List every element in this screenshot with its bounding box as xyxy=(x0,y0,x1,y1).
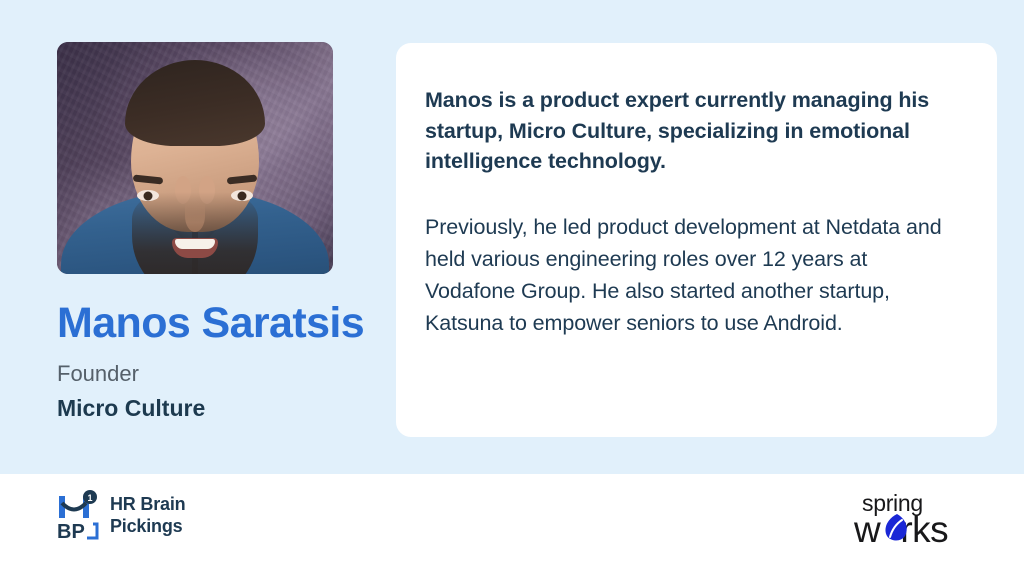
speaker-photo xyxy=(57,42,333,274)
speaker-company: Micro Culture xyxy=(57,394,387,423)
badge-number: 1 xyxy=(87,493,92,503)
photo-nose xyxy=(185,200,205,232)
hr-brain-pickings-logo: 1 BP HR Brain Pickings xyxy=(57,490,185,542)
bp-letters: BP xyxy=(57,521,85,542)
slide-root: Manos Saratsis Founder Micro Culture Man… xyxy=(0,0,1024,576)
photo-eye-left xyxy=(231,190,253,201)
bio-card: Manos is a product expert currently mana… xyxy=(396,43,997,437)
bio-body-paragraph: Previously, he led product development a… xyxy=(425,211,961,340)
leaf-icon xyxy=(884,513,910,542)
photo-brow-left xyxy=(227,174,258,184)
hr-brain-pickings-wordmark: HR Brain Pickings xyxy=(110,494,185,537)
springworks-works-text: works xyxy=(854,511,974,548)
bridge-h-icon: 1 BP xyxy=(57,490,101,542)
photo-brow-right xyxy=(133,174,164,184)
speaker-name: Manos Saratsis xyxy=(57,301,387,346)
photo-mouth xyxy=(172,238,218,258)
footer-bar: 1 BP HR Brain Pickings spring works xyxy=(0,474,1024,576)
speaker-role: Founder xyxy=(57,360,387,388)
photo-eye-right xyxy=(137,190,159,201)
profile-block: Manos Saratsis Founder Micro Culture xyxy=(57,42,387,422)
hrbp-line-2: Pickings xyxy=(110,516,185,538)
bio-lead-paragraph: Manos is a product expert currently mana… xyxy=(425,85,961,177)
springworks-w: w xyxy=(854,509,880,550)
hr-brain-pickings-mark: 1 BP xyxy=(57,490,101,542)
springworks-logo: spring works xyxy=(854,492,974,548)
hrbp-line-1: HR Brain xyxy=(110,494,185,516)
